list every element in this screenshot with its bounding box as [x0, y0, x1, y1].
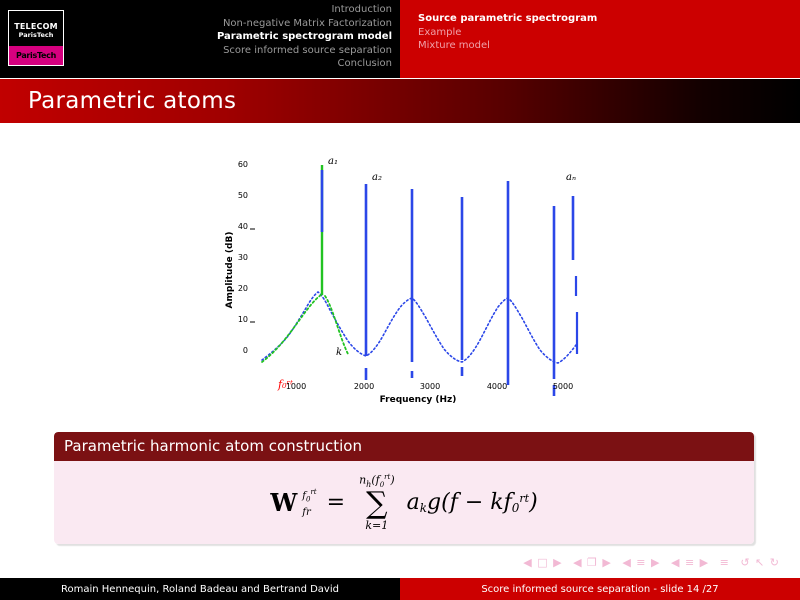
nav-symbol-frame-icon[interactable]: ◀ ❐ ▶ [573, 556, 612, 569]
slide-header: TELECOM ParisTech ParisTech Introduction… [0, 0, 800, 78]
x-axis-title: Frequency (Hz) [380, 395, 457, 405]
section-navigation-left: Introduction Non-negative Matrix Factori… [217, 3, 392, 71]
y-tick-40: 40 [238, 222, 248, 231]
formula-W-symbol: W [270, 488, 297, 517]
theorem-block: Parametric harmonic atom construction W … [54, 432, 754, 544]
telecom-paristech-logo: TELECOM ParisTech ParisTech [8, 10, 64, 66]
logo-magenta-band: ParisTech [9, 46, 63, 65]
harmonic-partial-sticks-secondary [576, 276, 577, 354]
page-title: Parametric atoms [28, 88, 236, 114]
nav-symbol-subsection-icon[interactable]: ◀ ≡ ▶ [622, 556, 660, 569]
x-tick-2000: 2000 [354, 382, 374, 391]
nav-symbol-section-icon[interactable]: ◀ ≡ ▶ [671, 556, 709, 569]
x-axis-tick-labels: 1000 2000 3000 4000 5000 [286, 382, 573, 391]
y-tick-20: 20 [238, 284, 248, 293]
formula-equals: = [327, 490, 345, 515]
y-tick-50: 50 [238, 191, 248, 200]
logo-upper-section: TELECOM ParisTech [9, 11, 63, 46]
y-tick-10: 10 [238, 315, 248, 324]
formula-summation: nh(f0rt) ∑ k=1 [359, 474, 395, 532]
beamer-navigation-symbols: ◀ □ ▶ ◀ ❐ ▶ ◀ ≡ ▶ ◀ ≡ ▶ ≡ ↺ ↖ ↻ [0, 556, 800, 569]
x-tick-3000: 3000 [420, 382, 440, 391]
header-right-panel: Source parametric spectrogram Example Mi… [400, 0, 800, 78]
formula-sum-lower-limit: k=1 [365, 520, 388, 531]
formula-sigma-glyph: ∑ [366, 489, 387, 519]
slide-title-bar: Parametric atoms [0, 79, 800, 123]
logo-paristech-text: ParisTech [19, 31, 54, 39]
y-tick-60: 60 [238, 160, 248, 169]
nav-item-score-informed-source-separation[interactable]: Score informed source separation [217, 44, 392, 58]
y-axis-tick-labels: 60 50 40 30 20 10 0 [238, 160, 248, 355]
x-tick-4000: 4000 [487, 382, 507, 391]
x-tick-5000: 5000 [553, 382, 573, 391]
footer-slide-info: Score informed source separation - slide… [400, 578, 800, 600]
harmonic-partial-sticks [322, 170, 573, 396]
nav-subitem-example[interactable]: Example [418, 26, 597, 40]
nav-item-parametric-spectrogram-model[interactable]: Parametric spectrogram model [217, 30, 392, 44]
nav-symbol-back-forward-icon[interactable]: ↺ ↖ ↻ [740, 556, 780, 569]
logo-telecom-text: TELECOM [14, 22, 58, 31]
x-tick-1000: 1000 [286, 382, 306, 391]
spectrum-figure: 60 50 40 30 20 10 0 Amplitude (dB) k [218, 140, 582, 412]
annotation-an: aₙ [566, 172, 576, 183]
nav-item-nmf[interactable]: Non-negative Matrix Factorization [217, 17, 392, 31]
nav-symbol-slide-icon[interactable]: ◀ □ ▶ [523, 556, 562, 569]
title-underline-rule [0, 123, 800, 125]
formula-lhs-subscript: fr [302, 508, 310, 518]
spectrum-plot-svg: 60 50 40 30 20 10 0 Amplitude (dB) k [218, 140, 582, 412]
header-left-panel: TELECOM ParisTech ParisTech Introduction… [0, 0, 400, 78]
annotation-a1: a₁ [328, 156, 338, 167]
nav-item-introduction[interactable]: Introduction [217, 3, 392, 17]
block-body: W f0rt fr = nh(f0rt) ∑ k=1 akg(f − kf0rt… [54, 461, 754, 544]
spectral-envelope-curve [262, 292, 576, 363]
formula-lhs-superscript: f0rt [302, 487, 316, 504]
subsection-navigation-right: Source parametric spectrogram Example Mi… [418, 12, 597, 53]
nav-symbol-document-icon[interactable]: ≡ [720, 556, 730, 569]
y-tick-0: 0 [243, 346, 248, 355]
nav-item-conclusion[interactable]: Conclusion [217, 57, 392, 71]
green-marker-label: k [336, 347, 342, 358]
harmonic-atom-formula: W f0rt fr = nh(f0rt) ∑ k=1 akg(f − kf0rt… [54, 474, 754, 532]
formula-right-hand-side: akg(f − kf0rt) [407, 490, 538, 515]
block-title: Parametric harmonic atom construction [54, 432, 754, 461]
nav-subitem-mixture-model[interactable]: Mixture model [418, 39, 597, 53]
y-axis-ticks [250, 229, 255, 322]
green-kernel-atom: k [262, 165, 348, 362]
footer-authors: Romain Hennequin, Roland Badeau and Bert… [0, 578, 400, 600]
nav-subitem-source-parametric-spectrogram[interactable]: Source parametric spectrogram [418, 12, 597, 26]
y-tick-30: 30 [238, 253, 248, 262]
slide-footer: Romain Hennequin, Roland Badeau and Bert… [0, 578, 800, 600]
y-axis-title: Amplitude (dB) [225, 232, 235, 309]
annotation-a2: a₂ [372, 172, 382, 183]
